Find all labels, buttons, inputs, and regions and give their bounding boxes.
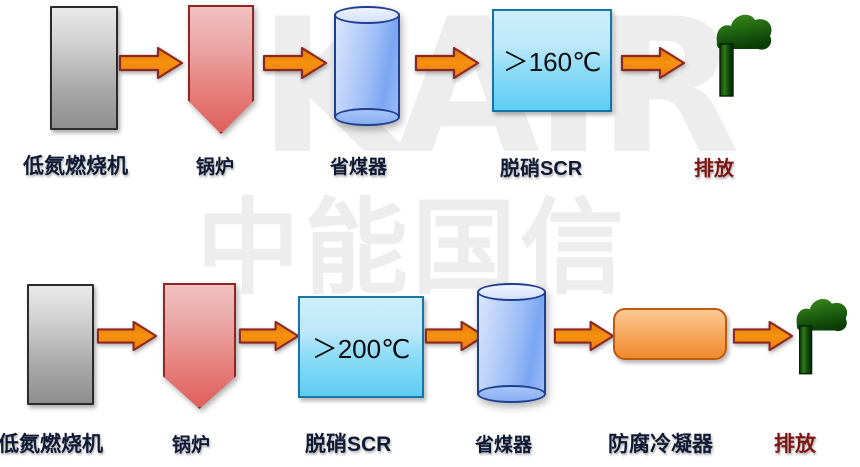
- bottom-economizer-shape[interactable]: [477, 283, 546, 403]
- top-boiler-shape[interactable]: [188, 5, 250, 130]
- bottom-arrow-1: [96, 320, 158, 352]
- top-label-scr: 脱硝SCR: [500, 152, 582, 181]
- top-label-emission: 排放: [694, 152, 734, 181]
- top-emission-stack-icon[interactable]: [703, 4, 779, 106]
- top-label-boiler: 锅炉: [196, 152, 234, 179]
- bottom-emission-stack-icon[interactable]: [784, 288, 854, 384]
- bottom-label-boiler: 锅炉: [172, 430, 210, 457]
- top-economizer-shape[interactable]: [334, 6, 400, 126]
- process-flow-diagram: KAIR 中能国信 ＞160℃: [0, 0, 860, 467]
- bottom-label-low-nox-burner: 低氮燃烧机: [0, 428, 103, 458]
- top-scr-temperature-value: ＞160℃: [503, 42, 602, 79]
- top-arrow-3: [414, 46, 480, 80]
- top-label-low-nox-burner: 低氮燃烧机: [23, 150, 128, 180]
- bottom-low-nox-burner-shape[interactable]: [27, 284, 94, 405]
- top-arrow-1: [118, 46, 184, 80]
- bottom-condenser-shape[interactable]: [613, 308, 727, 360]
- bottom-arrow-4: [553, 320, 615, 352]
- bottom-arrow-2: [238, 320, 300, 352]
- top-scr-shape[interactable]: ＞160℃: [492, 9, 612, 112]
- bottom-boiler-shape[interactable]: [163, 283, 232, 405]
- top-label-economizer: 省煤器: [330, 152, 387, 179]
- bottom-scr-temperature-value: ＞200℃: [312, 329, 411, 366]
- top-arrow-2: [262, 46, 328, 80]
- watermark-company: 中能国信: [196, 196, 628, 300]
- bottom-label-scr: 脱硝SCR: [305, 428, 391, 458]
- bottom-label-emission: 排放: [774, 428, 816, 458]
- top-low-nox-burner-shape[interactable]: [50, 6, 118, 130]
- bottom-scr-shape[interactable]: ＞200℃: [298, 296, 424, 398]
- top-arrow-4: [620, 46, 686, 80]
- bottom-label-condenser: 防腐冷凝器: [608, 428, 713, 458]
- bottom-label-economizer: 省煤器: [475, 430, 532, 457]
